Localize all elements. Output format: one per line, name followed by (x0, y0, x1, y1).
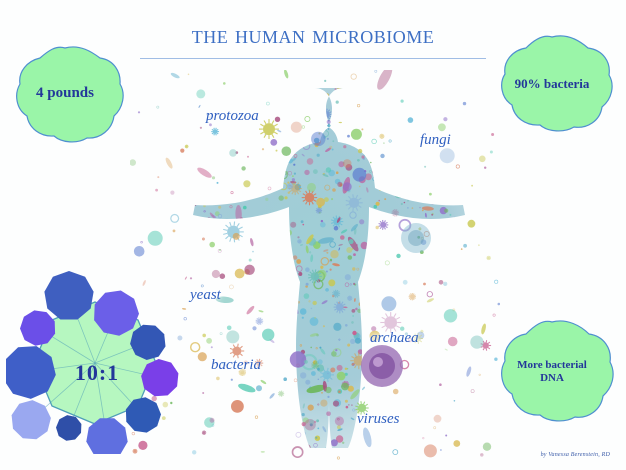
label-fungi: fungi (420, 132, 451, 149)
title-divider (140, 58, 486, 59)
microbiome-infographic: The human microbiome 4 pounds 90% bacter… (0, 0, 626, 470)
title-block: The human microbiome (140, 22, 486, 59)
ratio-cluster: 10:1 (6, 268, 184, 454)
ratio-cell (12, 400, 51, 439)
badge-label: More bacterial DNA (517, 359, 587, 384)
badge-more-bacterial-dna: More bacterial DNA (486, 316, 618, 428)
badge-label: 90% bacteria (515, 77, 590, 92)
badge-label-line1: More bacterial (517, 359, 587, 371)
label-archaea: archaea (370, 330, 419, 347)
label-protozoa: protozoa (206, 108, 259, 125)
badge-label: 4 pounds (36, 85, 94, 102)
page-title: The human microbiome (140, 22, 486, 50)
badge-label-line2: DNA (540, 372, 564, 384)
ratio-cell (56, 415, 81, 441)
label-viruses: viruses (357, 411, 400, 428)
human-microbiome-figure (130, 70, 500, 460)
badge-90-percent-bacteria: 90% bacteria (486, 32, 618, 136)
ratio-cell (44, 271, 93, 320)
label-bacteria: bacteria (211, 357, 261, 374)
credit-line: by Vanessa Berenstein, RD (541, 452, 610, 458)
label-yeast: yeast (190, 287, 221, 304)
badge-4-pounds: 4 pounds (2, 42, 128, 146)
ratio-cell (141, 359, 178, 396)
